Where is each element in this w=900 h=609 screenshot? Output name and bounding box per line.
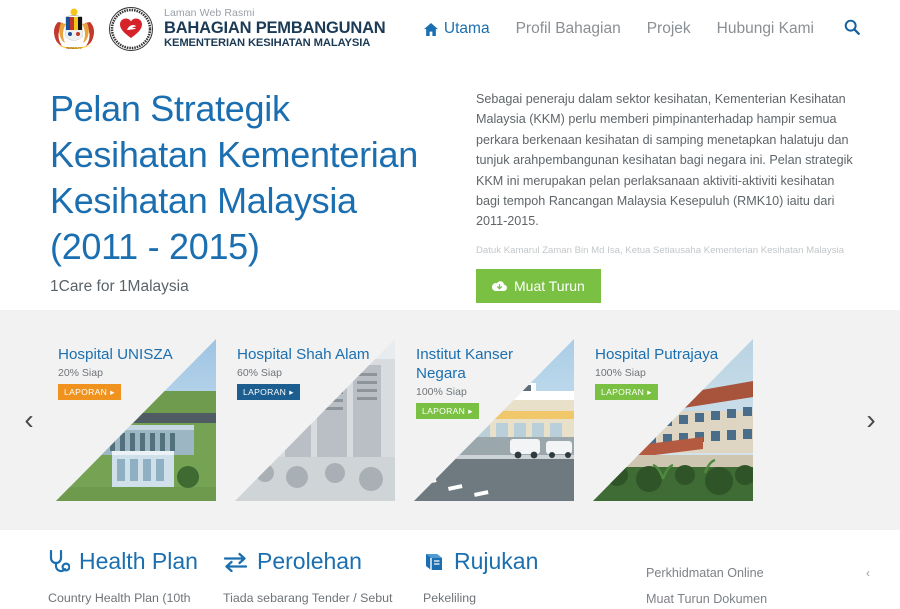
card-badge-arrow-icon: ▸: [289, 387, 294, 398]
chevron-left-icon: ‹: [866, 566, 870, 580]
stethoscope-icon: [48, 550, 70, 574]
footer-sections: Health Plan Country Health Plan (10th Ma…: [0, 530, 900, 609]
download-button[interactable]: Muat Turun: [476, 269, 601, 303]
footer-heading: Perolehan: [223, 548, 413, 575]
main-navigation: Utama Profil Bahagian Projek Hubungi Kam…: [424, 19, 860, 39]
card-progress: 60% Siap: [237, 367, 395, 379]
card-badge-label: LAPORAN: [64, 387, 107, 397]
project-card[interactable]: Hospital UNISZA 20% Siap LAPORAN ▸: [56, 339, 216, 501]
footer-heading: Rujukan: [423, 548, 628, 575]
project-card[interactable]: Hospital Shah Alam 60% Siap LAPORAN ▸: [235, 339, 395, 501]
carousel-prev-button[interactable]: ‹: [8, 406, 50, 434]
brand-subtitle: KEMENTERIAN KESIHATAN MALAYSIA: [164, 38, 386, 50]
card-badge-arrow-icon: ▸: [468, 406, 473, 417]
footer-body-text: Tiada sebarang Tender / Sebut: [223, 589, 413, 608]
nav-label-utama: Utama: [444, 20, 490, 38]
footer-link-muat-turun-dokumen[interactable]: Muat Turun Dokumen: [646, 586, 870, 609]
search-icon[interactable]: [844, 19, 860, 39]
card-title: Hospital Shah Alam: [237, 345, 372, 364]
footer-body-text: Country Health Plan (10th Malaysia: [48, 589, 213, 609]
project-card[interactable]: Hospital Putrajaya 100% Siap LAPORAN ▸: [593, 339, 753, 501]
card-progress: 20% Siap: [58, 367, 216, 379]
footer-link-perkhidmatan-online[interactable]: Perkhidmatan Online ‹: [646, 560, 870, 586]
card-report-badge[interactable]: LAPORAN ▸: [416, 403, 479, 419]
carousel-next-button[interactable]: ›: [850, 406, 892, 434]
site-header: BERSEKUTU Laman Web Rasmi BAHAGIAN PEMBA…: [0, 0, 900, 58]
card-title: Institut Kanser Negara: [416, 345, 551, 383]
project-card[interactable]: Institut Kanser Negara 100% Siap LAPORAN…: [414, 339, 574, 501]
brand-text: Laman Web Rasmi BAHAGIAN PEMBANGUNAN KEM…: [164, 8, 386, 50]
card-info: Hospital UNISZA 20% Siap LAPORAN ▸: [56, 339, 216, 400]
nav-item-hubungi-kami[interactable]: Hubungi Kami: [717, 20, 814, 38]
exchange-arrows-icon: [223, 552, 248, 572]
hero-left: Pelan Strategik Kesihatan Kementerian Ke…: [50, 86, 450, 310]
card-badge-arrow-icon: ▸: [647, 387, 652, 398]
page-title: Pelan Strategik Kesihatan Kementerian Ke…: [50, 86, 450, 270]
footer-column-rujukan: Rujukan Pekeliling: [413, 548, 628, 609]
home-icon: [424, 23, 438, 36]
card-info: Hospital Putrajaya 100% Siap LAPORAN ▸: [593, 339, 753, 400]
card-badge-label: LAPORAN: [601, 387, 644, 397]
cloud-download-icon: [492, 280, 507, 292]
hero-credit: Datuk Kamarul Zaman Bin Md Isa, Ketua Se…: [476, 244, 856, 257]
footer-heading-label: Health Plan: [79, 548, 198, 575]
book-icon: [423, 551, 445, 573]
card-badge-label: LAPORAN: [422, 406, 465, 416]
card-info: Hospital Shah Alam 60% Siap LAPORAN ▸: [235, 339, 395, 400]
hero-section: Pelan Strategik Kesihatan Kementerian Ke…: [0, 58, 900, 310]
card-report-badge[interactable]: LAPORAN ▸: [58, 384, 121, 400]
malaysia-coat-of-arms-icon: BERSEKUTU: [48, 7, 100, 51]
svg-text:BERSEKUTU: BERSEKUTU: [66, 47, 81, 50]
card-report-badge[interactable]: LAPORAN ▸: [595, 384, 658, 400]
footer-column-perolehan: Perolehan Tiada sebarang Tender / Sebut: [213, 548, 413, 609]
footer-link-label: Perkhidmatan Online: [646, 566, 764, 580]
nav-item-projek[interactable]: Projek: [647, 20, 691, 38]
card-title: Hospital UNISZA: [58, 345, 193, 364]
nav-item-utama[interactable]: Utama: [424, 20, 490, 38]
brand-superline: Laman Web Rasmi: [164, 8, 386, 19]
footer-heading-label: Rujukan: [454, 548, 538, 575]
site-brand[interactable]: BERSEKUTU Laman Web Rasmi BAHAGIAN PEMBA…: [48, 7, 386, 51]
footer-column-health-plan: Health Plan Country Health Plan (10th Ma…: [0, 548, 213, 609]
card-info: Institut Kanser Negara 100% Siap LAPORAN…: [414, 339, 574, 419]
download-button-label: Muat Turun: [514, 278, 585, 294]
project-carousel: ‹: [0, 310, 900, 530]
footer-heading-label: Perolehan: [257, 548, 362, 575]
footer-link-label: Muat Turun Dokumen: [646, 592, 767, 606]
card-badge-label: LAPORAN: [243, 387, 286, 397]
footer-body-text: Pekeliling: [423, 589, 628, 608]
card-badge-arrow-icon: ▸: [110, 387, 115, 398]
brand-title: BAHAGIAN PEMBANGUNAN: [164, 20, 386, 37]
hero-subtitle: 1Care for 1Malaysia: [50, 278, 450, 296]
hero-paragraph: Sebagai peneraju dalam sektor kesihatan,…: [476, 89, 856, 232]
card-title: Hospital Putrajaya: [595, 345, 730, 364]
footer-heading: Health Plan: [48, 548, 213, 575]
card-progress: 100% Siap: [416, 386, 574, 398]
nav-item-profil-bahagian[interactable]: Profil Bahagian: [516, 20, 621, 38]
footer-links-list: Perkhidmatan Online ‹ Muat Turun Dokumen: [628, 548, 900, 609]
carousel-cards: Hospital UNISZA 20% Siap LAPORAN ▸: [50, 339, 850, 501]
card-report-badge[interactable]: LAPORAN ▸: [237, 384, 300, 400]
hero-right: Sebagai peneraju dalam sektor kesihatan,…: [476, 86, 856, 310]
card-progress: 100% Siap: [595, 367, 753, 379]
kkm-heart-hand-logo-icon: [109, 7, 153, 51]
